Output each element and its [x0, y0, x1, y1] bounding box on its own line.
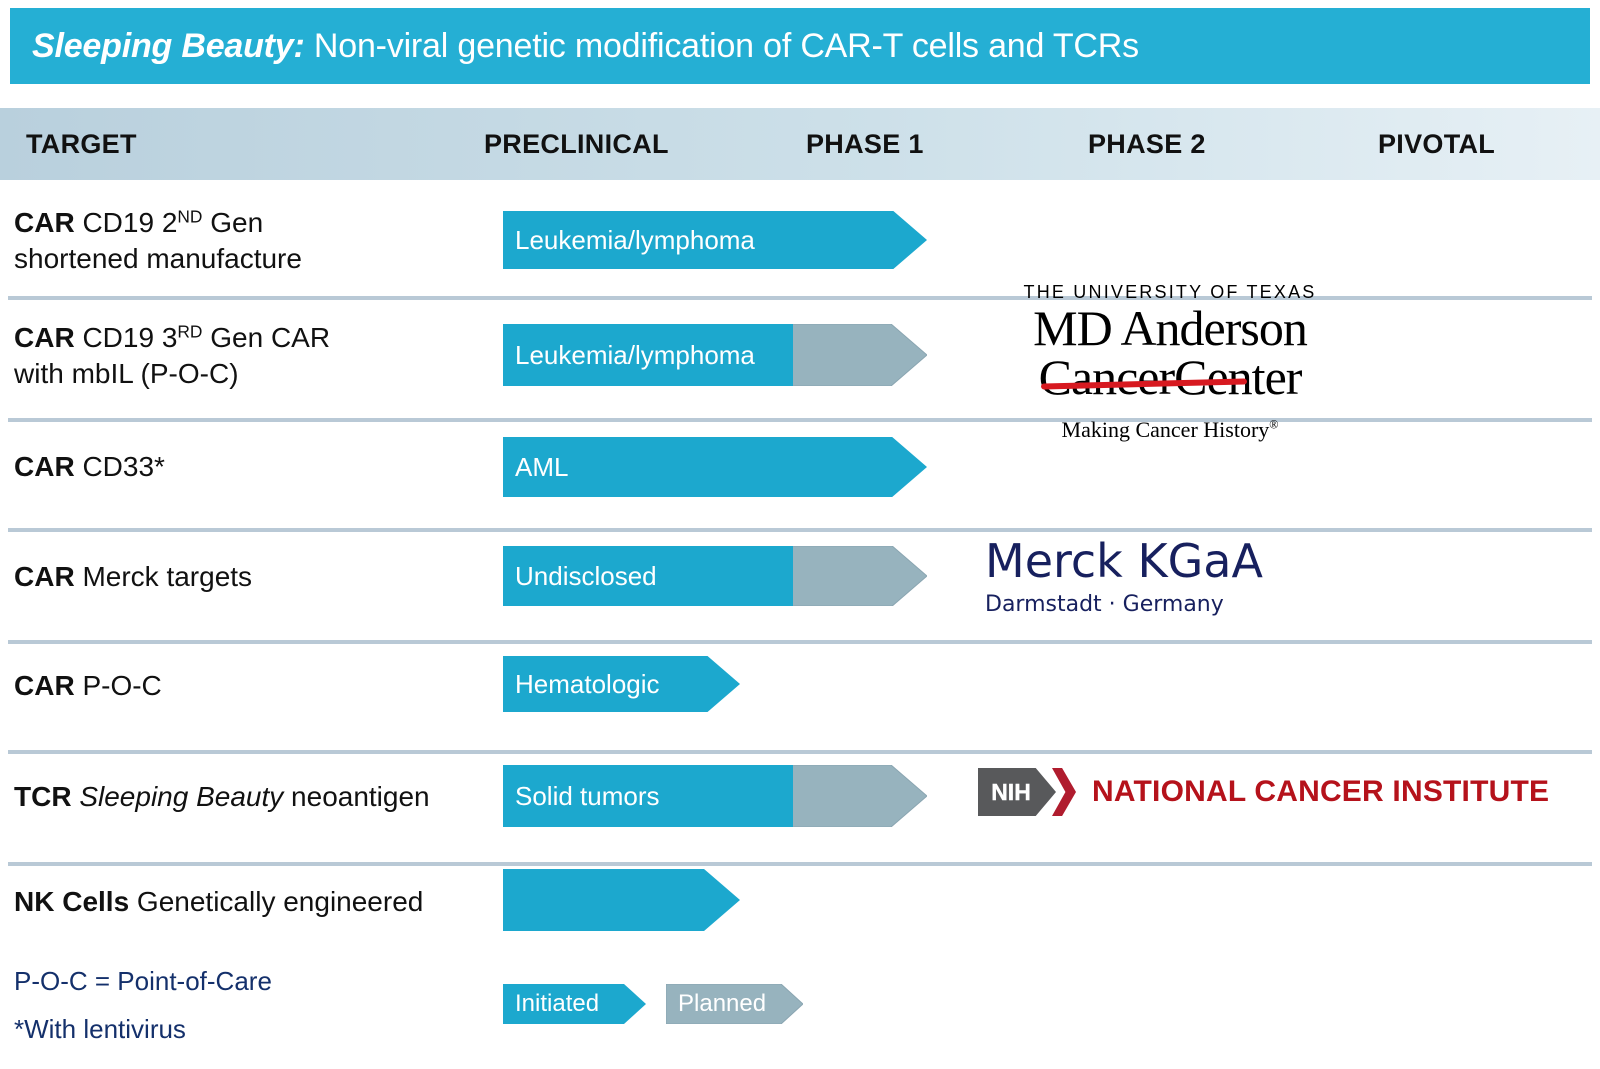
footnote-poc: P-O-C = Point-of-Care	[14, 968, 272, 994]
merck-name: Merck KGaA	[985, 538, 1263, 584]
pipeline-arrow	[503, 869, 740, 931]
target-name-part: CD19 3	[75, 322, 178, 353]
target-label: TCR Sleeping Beauty neoantigen	[14, 779, 430, 815]
merck-location: Darmstadt · Germany	[985, 592, 1263, 617]
target-label-line2: with mbIL (P-O-C)	[14, 356, 330, 392]
target-modality: CAR	[14, 451, 75, 482]
legend-label-planned: Planned	[678, 984, 766, 1024]
pipeline-bar[interactable]	[503, 869, 740, 931]
legend-item-planned: Planned	[666, 984, 803, 1024]
md-anderson-line2: MD Anderson	[980, 305, 1360, 352]
target-modality: NK Cells	[14, 886, 129, 917]
target-name-part: Genetically engineered	[129, 886, 423, 917]
pipeline-bar[interactable]: Solid tumors	[503, 765, 927, 827]
target-label: NK Cells Genetically engineered	[14, 884, 423, 920]
pipeline-bar[interactable]: Hematologic	[503, 656, 740, 712]
target-label: CAR P-O-C	[14, 668, 162, 704]
pipeline-arrow	[503, 765, 927, 827]
target-label: CAR Merck targets	[14, 559, 252, 595]
pipeline-rows: CAR CD19 2ND Genshortened manufactureLeu…	[0, 0, 1600, 1069]
target-label: CAR CD33*	[14, 449, 165, 485]
target-name-part: CD33*	[75, 451, 165, 482]
target-name-part: CD19 2	[75, 207, 178, 238]
row-divider	[8, 528, 1592, 532]
footnote-lentivirus: *With lentivirus	[14, 1016, 272, 1042]
pipeline-bar[interactable]: AML	[503, 437, 927, 497]
footnotes: P-O-C = Point-of-Care *With lentivirus	[14, 968, 272, 1064]
target-name-part: Merck targets	[75, 561, 252, 592]
target-label: CAR CD19 3RD Gen CARwith mbIL (P-O-C)	[14, 320, 330, 392]
pipeline-arrow	[503, 546, 927, 606]
arrow-initiated-segment	[503, 546, 793, 606]
row-divider	[8, 862, 1592, 866]
pipeline-arrow	[503, 437, 927, 497]
national-cancer-institute-logo: NIH NATIONAL CANCER INSTITUTE	[978, 768, 1549, 816]
target-label-line2: shortened manufacture	[14, 241, 302, 277]
legend: Initiated Planned	[503, 984, 823, 1024]
target-modality: CAR	[14, 322, 75, 353]
md-anderson-line3: CancerCenter	[980, 354, 1360, 401]
target-modality: CAR	[14, 207, 75, 238]
md-anderson-tagline: Making Cancer History®	[980, 417, 1360, 443]
md-anderson-logo: THE UNIVERSITY OF TEXAS MD Anderson Canc…	[980, 282, 1360, 443]
pipeline-bar[interactable]: Leukemia/lymphoma	[503, 211, 927, 269]
target-name-part: neoantigen	[283, 781, 429, 812]
target-modality: CAR	[14, 670, 75, 701]
nih-badge-icon: NIH	[978, 768, 1056, 816]
nih-label: NIH	[991, 779, 1043, 806]
md-anderson-center: Center	[1174, 349, 1301, 405]
pipeline-arrow	[503, 211, 927, 269]
target-label: CAR CD19 2ND Genshortened manufacture	[14, 205, 302, 277]
target-name-part: Gen CAR	[202, 322, 330, 353]
target-name-part: ND	[177, 206, 202, 226]
target-modality: CAR	[14, 561, 75, 592]
target-name-part: P-O-C	[75, 670, 162, 701]
row-divider	[8, 750, 1592, 754]
row-divider	[8, 640, 1592, 644]
registered-mark-icon: ®	[1269, 418, 1278, 432]
pipeline-bar[interactable]: Undisclosed	[503, 546, 927, 606]
arrow-initiated-segment	[503, 765, 793, 827]
arrow-initiated-segment	[503, 324, 793, 386]
merck-kgaa-logo: Merck KGaA Darmstadt · Germany	[985, 538, 1263, 617]
target-name-part: RD	[177, 321, 202, 341]
nci-name: NATIONAL CANCER INSTITUTE	[1092, 775, 1549, 809]
target-name-part: Sleeping Beauty	[72, 781, 284, 812]
target-name-part: Gen	[202, 207, 263, 238]
md-anderson-cancer-struck: Cancer	[1039, 354, 1175, 401]
legend-label-initiated: Initiated	[515, 984, 599, 1024]
legend-item-initiated: Initiated	[503, 984, 646, 1024]
pipeline-arrow	[503, 324, 927, 386]
pipeline-arrow	[503, 656, 740, 712]
pipeline-bar[interactable]: Leukemia/lymphoma	[503, 324, 927, 386]
target-modality: TCR	[14, 781, 72, 812]
